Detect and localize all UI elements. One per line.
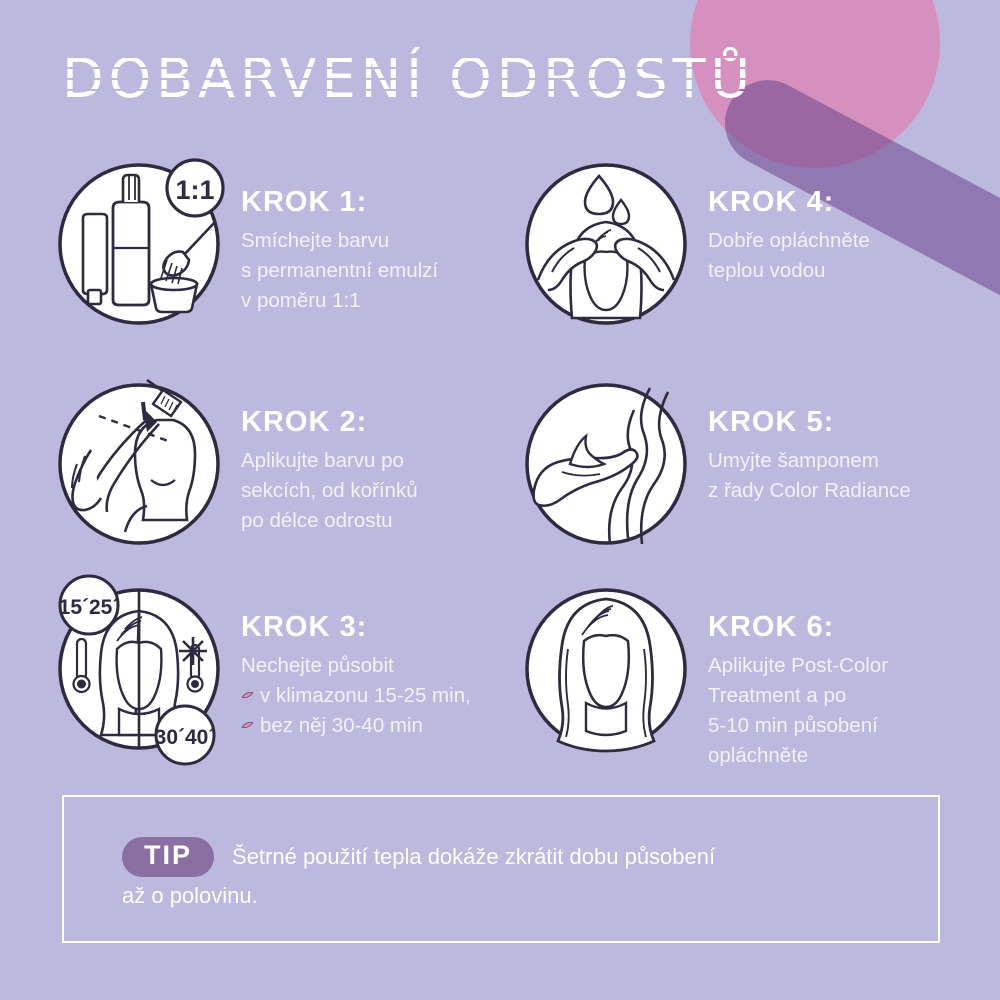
step-text-3: KROK 3: Nechejte působit v klimazonu 15-… bbox=[241, 585, 471, 741]
step-line: sekcích, od kořínků bbox=[241, 476, 418, 506]
page-title: DOBARVENÍ ODROSTŮ bbox=[62, 47, 755, 110]
step-body-5: Umyjte šamponem z řady Color Radiance bbox=[708, 446, 911, 506]
step-line: v klimazonu 15-25 min, bbox=[260, 681, 471, 711]
step-line: Umyjte šamponem bbox=[708, 446, 911, 476]
step-line: po délce odrostu bbox=[241, 506, 418, 536]
step-body-2: Aplikujte barvu po sekcích, od kořínků p… bbox=[241, 446, 418, 536]
step-line: z řady Color Radiance bbox=[708, 476, 911, 506]
step-body-1: Smíchejte barvu s permanentní emulzí v p… bbox=[241, 226, 438, 316]
step-line: opláchněte bbox=[708, 741, 888, 771]
step-item-5: KROK 5: Umyjte šamponem z řady Color Rad… bbox=[522, 380, 911, 548]
step-text-6: KROK 6: Aplikujte Post-Color Treatment a… bbox=[708, 585, 888, 772]
step-item-1: 1:1 KROK 1: Smíchejte barvu s permanentn… bbox=[55, 160, 438, 328]
shampoo-hand-icon bbox=[522, 380, 690, 548]
step-line: Treatment a po bbox=[708, 681, 888, 711]
petal-bullet-icon bbox=[241, 721, 254, 729]
rinse-water-icon bbox=[522, 160, 690, 328]
step-text-1: KROK 1: Smíchejte barvu s permanentní em… bbox=[241, 160, 438, 316]
step-line: 5-10 min působení bbox=[708, 711, 888, 741]
step-title-4: KROK 4: bbox=[708, 186, 870, 219]
tip-badge: TIP bbox=[122, 837, 214, 877]
tip-panel: TIP Šetrné použití tepla dokáže zkrátit … bbox=[62, 795, 940, 943]
step-title-3: KROK 3: bbox=[241, 611, 471, 644]
step-title-6: KROK 6: bbox=[708, 611, 888, 644]
step-bullet-line: v klimazonu 15-25 min, bbox=[241, 681, 471, 711]
tip-line-2: až o polovinu. bbox=[122, 879, 918, 912]
step-line: Smíchejte barvu bbox=[241, 226, 438, 256]
step-item-4: KROK 4: Dobře opláchněte teplou vodou bbox=[522, 160, 870, 328]
mixing-products-icon: 1:1 bbox=[55, 160, 223, 328]
step-line: Nechejte působit bbox=[241, 651, 471, 681]
step-line: Aplikujte barvu po bbox=[241, 446, 418, 476]
step-body-4: Dobře opláchněte teplou vodou bbox=[708, 226, 870, 286]
step-line: v poměru 1:1 bbox=[241, 286, 438, 316]
step-item-2: KROK 2: Aplikujte barvu po sekcích, od k… bbox=[55, 380, 418, 548]
step-item-3: 15´25´ 30´40´ KROK 3: Nechejte působit v… bbox=[55, 585, 471, 753]
step-text-5: KROK 5: Umyjte šamponem z řady Color Rad… bbox=[708, 380, 911, 506]
step-title-5: KROK 5: bbox=[708, 406, 911, 439]
petal-bullet-icon bbox=[241, 691, 254, 699]
tip-line-1: Šetrné použití tepla dokáže zkrátit dobu… bbox=[232, 840, 715, 873]
step-line: bez něj 30-40 min bbox=[260, 711, 423, 741]
step-text-4: KROK 4: Dobře opláchněte teplou vodou bbox=[708, 160, 870, 286]
step-line: Dobře opláchněte bbox=[708, 226, 870, 256]
step-text-2: KROK 2: Aplikujte barvu po sekcích, od k… bbox=[241, 380, 418, 536]
svg-text:1:1: 1:1 bbox=[175, 175, 214, 205]
step-body-3: Nechejte působit v klimazonu 15-25 min, … bbox=[241, 651, 471, 741]
svg-text:30´40´: 30´40´ bbox=[155, 726, 216, 749]
step-line: s permanentní emulzí bbox=[241, 256, 438, 286]
step-title-2: KROK 2: bbox=[241, 406, 418, 439]
step-title-1: KROK 1: bbox=[241, 186, 438, 219]
finished-hair-icon bbox=[522, 585, 690, 753]
step-body-6: Aplikujte Post-Color Treatment a po 5-10… bbox=[708, 651, 888, 772]
step-line: teplou vodou bbox=[708, 256, 870, 286]
step-item-6: KROK 6: Aplikujte Post-Color Treatment a… bbox=[522, 585, 888, 772]
tip-content: TIP Šetrné použití tepla dokáže zkrátit … bbox=[122, 837, 918, 912]
step-bullet-line: bez něj 30-40 min bbox=[241, 711, 471, 741]
apply-color-brush-icon bbox=[55, 380, 223, 548]
processing-time-icon: 15´25´ 30´40´ bbox=[55, 585, 223, 753]
tip-first-row: TIP Šetrné použití tepla dokáže zkrátit … bbox=[122, 837, 918, 877]
svg-text:15´25´: 15´25´ bbox=[59, 596, 120, 619]
step-line: Aplikujte Post-Color bbox=[708, 651, 888, 681]
